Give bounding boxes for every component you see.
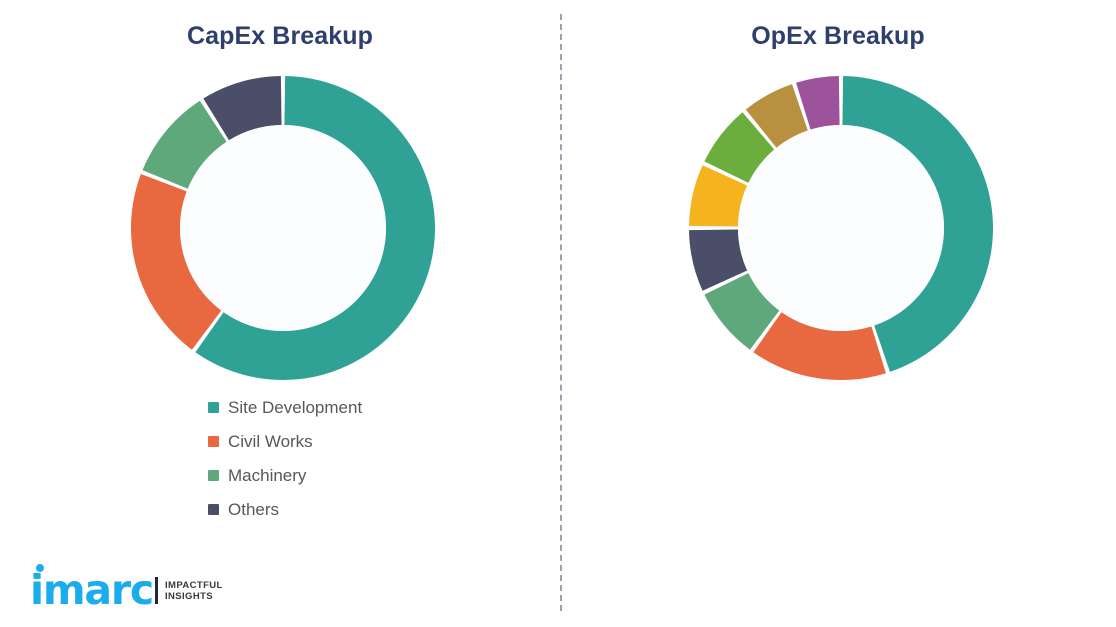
logo-divider-bar (155, 577, 158, 604)
capex-donut-chart (129, 74, 437, 382)
legend-item-label: Machinery (228, 467, 306, 484)
donut-slice (753, 312, 886, 380)
logo-wordmark: imarc (30, 573, 153, 608)
donut-slice (842, 76, 993, 372)
legend-item-label: Civil Works (228, 433, 313, 450)
capex-chart-title: CapEx Breakup (0, 22, 560, 51)
opex-donut-chart (687, 74, 995, 382)
logo-tagline: IMPACTFUL INSIGHTS (165, 580, 223, 608)
donut-slice (131, 174, 221, 350)
capex-legend: Site DevelopmentCivil WorksMachineryOthe… (208, 390, 362, 526)
capex-panel: CapEx Breakup Site DevelopmentCivil Work… (0, 0, 560, 627)
opex-donut-svg (687, 74, 995, 382)
legend-item[interactable]: Others (208, 492, 362, 526)
legend-item-label: Site Development (228, 399, 362, 416)
imarc-logo: imarc IMPACTFUL INSIGHTS (30, 566, 223, 608)
legend-swatch-icon (208, 402, 219, 413)
logo-dot-icon (36, 564, 44, 572)
legend-swatch-icon (208, 436, 219, 447)
slide-canvas: CapEx Breakup Site DevelopmentCivil Work… (0, 0, 1116, 627)
opex-panel: OpEx Breakup Raw MaterialsSalaries and W… (560, 0, 1116, 627)
opex-chart-title: OpEx Breakup (560, 22, 1116, 51)
capex-donut-svg (129, 74, 437, 382)
legend-item[interactable]: Civil Works (208, 424, 362, 458)
legend-item-label: Others (228, 501, 279, 518)
legend-swatch-icon (208, 470, 219, 481)
legend-swatch-icon (208, 504, 219, 515)
logo-tagline-line2: INSIGHTS (165, 591, 223, 603)
legend-item[interactable]: Machinery (208, 458, 362, 492)
logo-tagline-line1: IMPACTFUL (165, 580, 223, 592)
legend-item[interactable]: Site Development (208, 390, 362, 424)
logo-wordmark-text: imarc (30, 566, 153, 614)
